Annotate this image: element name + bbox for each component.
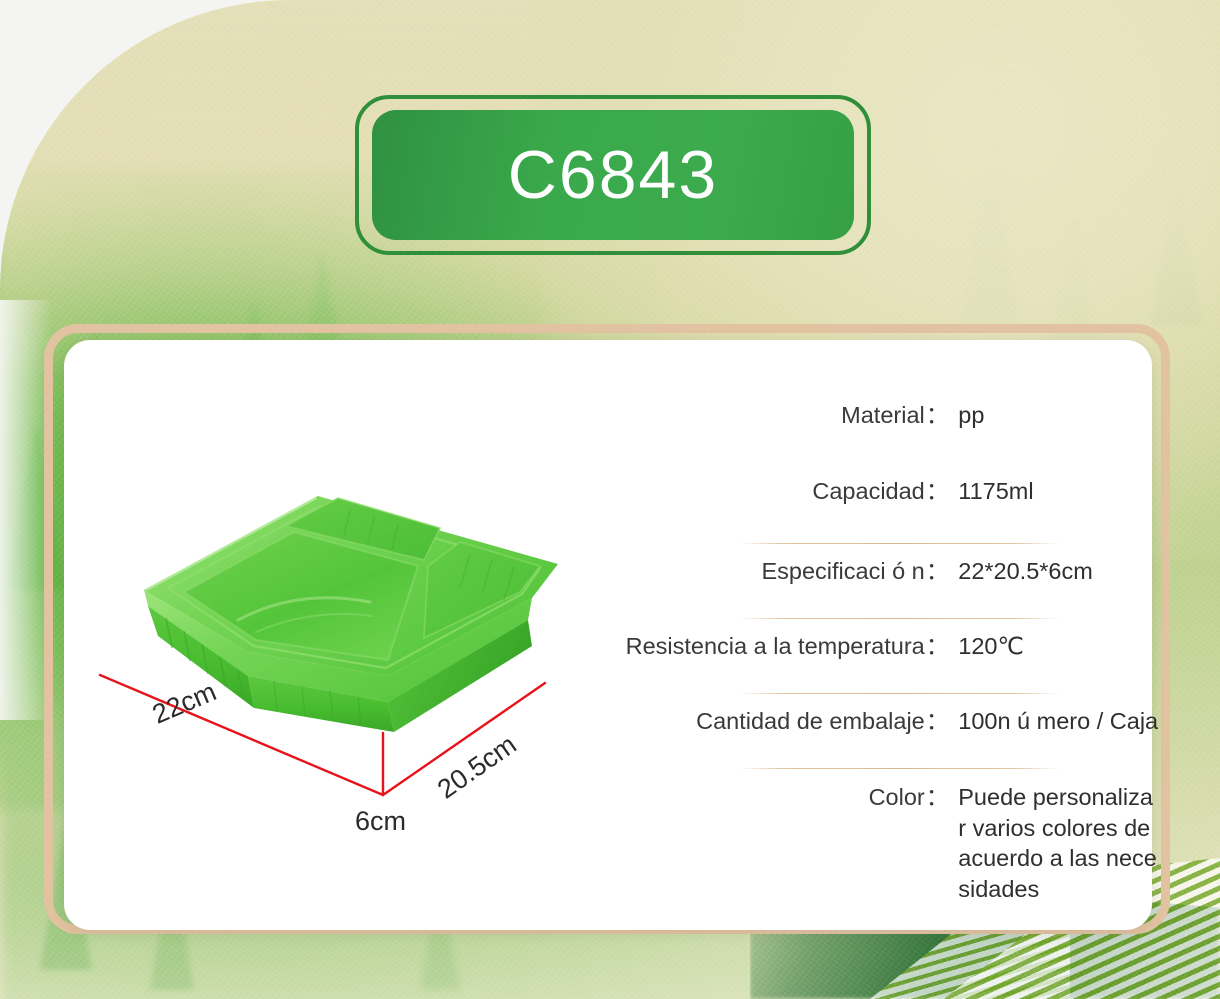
spec-value: 120℃: [958, 631, 1160, 662]
spec-value: 22*20.5*6cm: [958, 556, 1160, 587]
specification-table: Material ： pp Capacidad ： 1175ml Especif…: [600, 392, 1160, 904]
spec-colon: ：: [925, 400, 950, 430]
spec-colon: ：: [925, 476, 950, 506]
product-tray-image: [88, 470, 588, 730]
spec-label: Capacidad: [600, 476, 925, 506]
dimension-height-label: 6cm: [355, 806, 406, 837]
spec-label: Especificaci ó n: [600, 556, 925, 586]
title-badge: C6843: [372, 110, 854, 240]
product-spec-page: C6843: [0, 0, 1220, 999]
spec-row-color: Color ： Puede personalizar varios colore…: [600, 769, 1160, 904]
dimension-width-label: 20.5cm: [432, 729, 522, 805]
spec-value: 100n ú mero / Caja: [958, 706, 1160, 737]
spec-value: pp: [958, 400, 1160, 431]
spec-value: Puede personalizar varios colores de acu…: [958, 782, 1160, 904]
top-left-rounded-cut: [0, 0, 290, 290]
spec-colon: ：: [925, 631, 950, 661]
spec-row-capacidad: Capacidad ： 1175ml: [600, 468, 1160, 543]
spec-label: Resistencia a la temperatura: [600, 631, 925, 661]
spec-label: Color: [600, 782, 925, 812]
spec-label: Cantidad de embalaje: [600, 706, 925, 736]
spec-row-cantidad-embalaje: Cantidad de embalaje ： 100n ú mero / Caj…: [600, 694, 1160, 768]
page-title: C6843: [508, 141, 718, 209]
spec-value: 1175ml: [958, 476, 1160, 507]
spec-row-especificacion: Especificaci ó n ： 22*20.5*6cm: [600, 544, 1160, 618]
spec-colon: ：: [925, 706, 950, 736]
spec-row-resistencia-temperatura: Resistencia a la temperatura ： 120℃: [600, 619, 1160, 693]
product-image-area: 22cm 20.5cm 6cm: [80, 470, 610, 870]
spec-label: Material: [600, 400, 925, 430]
spec-colon: ：: [925, 782, 950, 812]
spec-colon: ：: [925, 556, 950, 586]
spec-row-material: Material ： pp: [600, 392, 1160, 468]
